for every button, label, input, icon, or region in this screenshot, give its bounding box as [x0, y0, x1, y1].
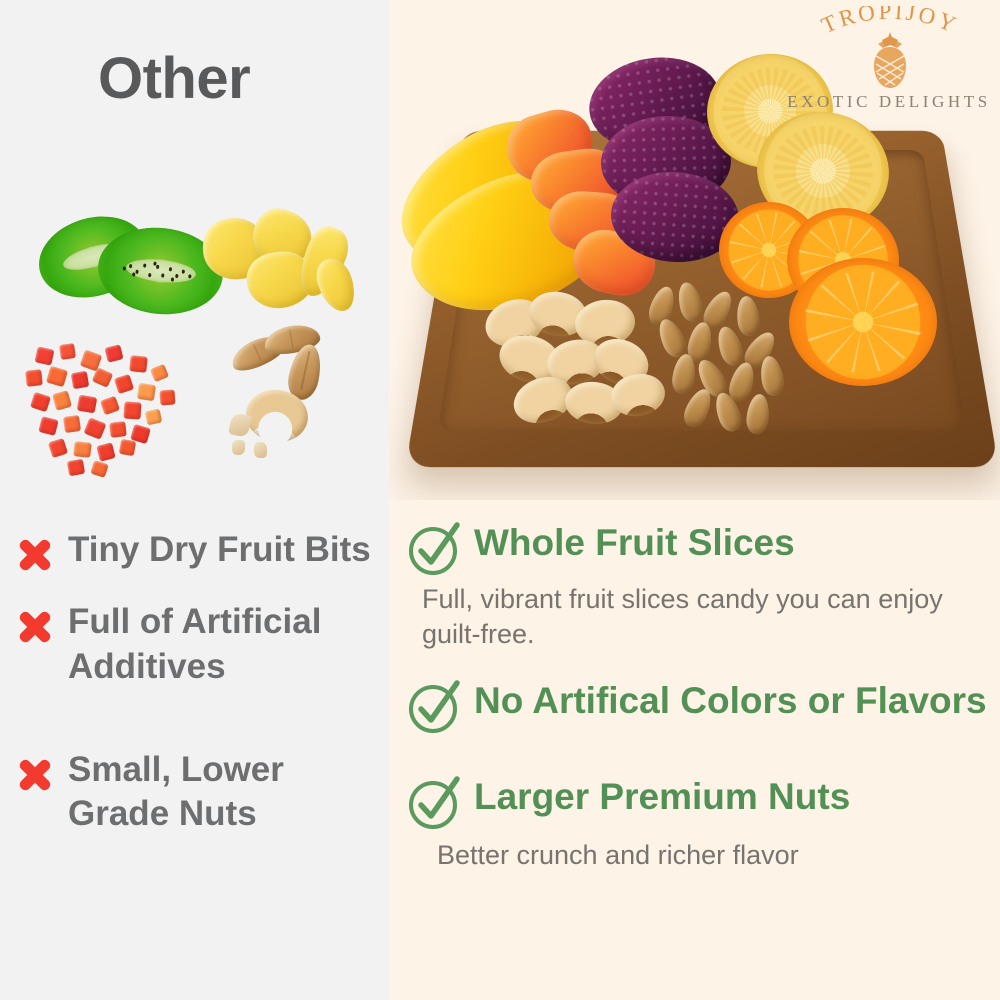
brand-tagline: EXOTIC DELIGHTS: [786, 92, 992, 112]
page-title: Other: [98, 45, 250, 112]
spacer: [14, 714, 389, 748]
small-nuts-image: [228, 322, 378, 472]
other-brand-column: Other: [0, 0, 389, 1000]
brand-logo: TROPIJOY EXOTIC DELIGHTS: [786, 6, 994, 118]
pro-title: Whole Fruit Slices: [474, 520, 992, 565]
nut-fragment: [232, 440, 245, 455]
dried-pineapple-chunks-image: [195, 200, 375, 325]
list-item: Tiny Dry Fruit Bits: [14, 528, 389, 576]
tropijoy-brand-column: TROPIJOY EXOTIC DELIGHTS: [389, 0, 1000, 1000]
spacer: [407, 740, 992, 774]
x-mark-icon: [14, 606, 56, 648]
pro-description: Better crunch and richer flavor: [437, 838, 992, 873]
other-product-photo: [0, 200, 389, 490]
check-circle-icon: [407, 680, 461, 734]
pineapple-icon: [867, 32, 913, 90]
pro-title: No Artifical Colors or Flavors: [474, 678, 992, 723]
pro-title: Larger Premium Nuts: [474, 774, 992, 819]
comparison-infographic: Other: [0, 0, 1000, 1000]
x-mark-icon: [14, 754, 56, 796]
pros-list: Whole Fruit Slices Full, vibrant fruit s…: [407, 520, 992, 899]
dried-kiwi-slices-image: [20, 200, 210, 330]
list-item: Full of Artificial Additives: [14, 600, 389, 690]
list-item: Larger Premium Nuts Better crunch and ri…: [407, 774, 992, 873]
kiwi-seeds: [118, 253, 203, 289]
nut-fragment: [228, 412, 252, 438]
orange-slice: [789, 258, 937, 386]
list-item: Small, Lower Grade Nuts: [14, 748, 389, 838]
check-circle-icon: [407, 776, 461, 830]
con-label: Small, Lower Grade Nuts: [68, 748, 389, 838]
list-item: Whole Fruit Slices Full, vibrant fruit s…: [407, 520, 992, 652]
con-label: Full of Artificial Additives: [68, 600, 389, 690]
check-circle-icon: [407, 522, 461, 576]
diced-candied-fruit-image: [20, 340, 210, 480]
pro-description: Full, vibrant fruit slices candy you can…: [422, 582, 992, 652]
list-item: No Artifical Colors or Flavors: [407, 678, 992, 734]
x-mark-icon: [14, 534, 56, 576]
con-label: Tiny Dry Fruit Bits: [68, 528, 371, 573]
nut-fragment: [254, 442, 267, 458]
cons-list: Tiny Dry Fruit Bits Full of Artificial A…: [14, 528, 389, 861]
